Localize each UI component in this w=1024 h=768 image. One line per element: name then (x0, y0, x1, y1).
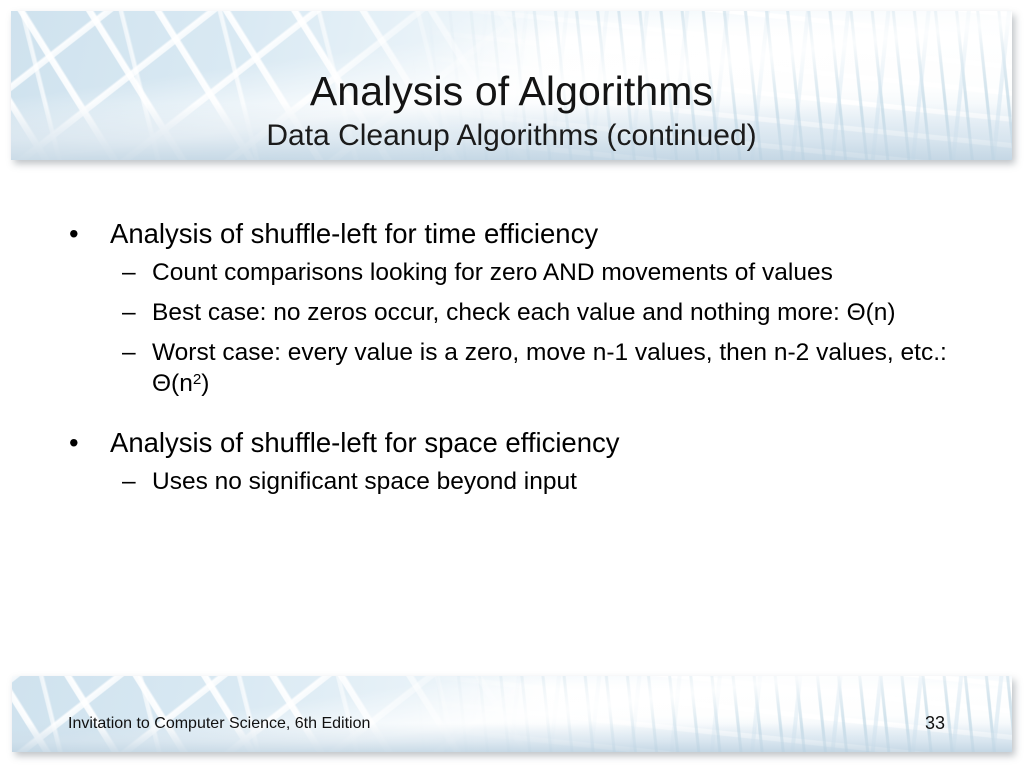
bullet-list-level2: – Uses no significant space beyond input (110, 466, 970, 497)
banner-texture-base (12, 676, 1012, 752)
banner-texture-dashes (11, 11, 1012, 160)
list-item: • Analysis of shuffle-left for time effi… (60, 216, 970, 402)
banner-texture-lattice-b (11, 11, 1012, 160)
bullet-marker-icon: • (69, 425, 79, 460)
banner-texture-dashes-secondary (11, 11, 1012, 160)
banner-texture-sheen (12, 676, 1012, 752)
banner-texture-wedge (12, 676, 1012, 752)
footer-banner (12, 676, 1012, 752)
banner-texture-dashes (12, 676, 1012, 752)
banner-texture-sheen (11, 11, 1012, 160)
dash-marker-icon: – (122, 337, 136, 368)
list-item-text-suffix: ) (201, 370, 209, 397)
banner-texture-base (11, 11, 1012, 160)
bullet-spacer (60, 411, 970, 425)
list-item-label: Best case: no zeros occur, check each va… (152, 297, 952, 328)
bullet-marker-icon: • (69, 216, 79, 251)
banner-texture-bottom-shade (11, 11, 1012, 160)
list-item: • Analysis of shuffle-left for space eff… (60, 425, 970, 497)
bullet-list-level1: • Analysis of shuffle-left for time effi… (60, 216, 970, 497)
slide-canvas: Analysis of Algorithms Data Cleanup Algo… (0, 0, 1024, 768)
list-item: – Uses no significant space beyond input (110, 466, 952, 497)
list-item-text-prefix: Worst case: every value is a zero, move … (152, 339, 947, 397)
list-item-label: Uses no significant space beyond input (152, 466, 952, 497)
dash-marker-icon: – (122, 297, 136, 328)
banner-texture-lattice-b (12, 676, 1012, 752)
dash-marker-icon: – (122, 257, 136, 288)
banner-texture-lattice-c (12, 676, 1012, 752)
banner-texture-wedge (11, 11, 1012, 160)
banner-texture-dashes-secondary (12, 676, 1012, 752)
bullet-list-level2: – Count comparisons looking for zero AND… (110, 257, 970, 402)
list-item-label: Count comparisons looking for zero AND m… (152, 257, 952, 288)
list-item-label: Worst case: every value is a zero, move … (152, 337, 952, 402)
list-item-label: Analysis of shuffle-left for time effici… (110, 216, 970, 251)
list-item: – Count comparisons looking for zero AND… (110, 257, 952, 288)
slide-body: • Analysis of shuffle-left for time effi… (60, 216, 970, 506)
banner-texture-lattice-c (11, 11, 1012, 160)
list-item-label: Analysis of shuffle-left for space effic… (110, 425, 970, 460)
banner-texture-lattice-a (12, 676, 1012, 752)
dash-marker-icon: – (122, 466, 136, 497)
header-banner (11, 11, 1012, 160)
list-item: – Best case: no zeros occur, check each … (110, 297, 952, 328)
banner-texture-lattice-a (11, 11, 1012, 160)
banner-texture-bottom-shade (12, 676, 1012, 752)
superscript-exponent: 2 (193, 371, 201, 388)
list-item: – Worst case: every value is a zero, mov… (110, 337, 952, 402)
